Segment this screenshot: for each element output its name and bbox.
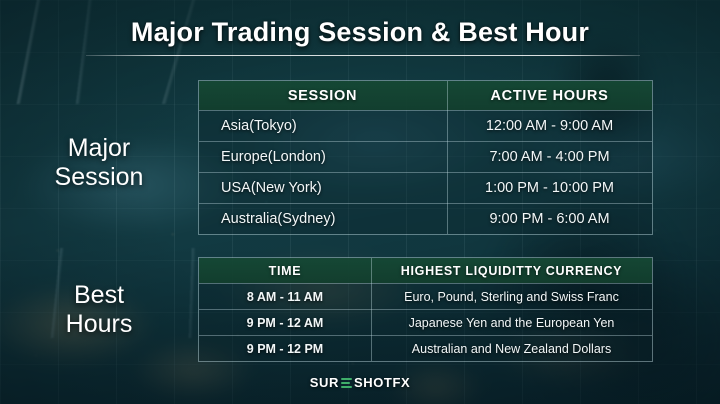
column-header-highest-liquidity-currency: HIGHEST LIQUIDITTY CURRENCY — [371, 264, 652, 278]
section-label-best-hours-line1: Best — [6, 281, 192, 310]
cell-time: 9 PM - 12 AM — [199, 316, 371, 330]
cell-active-hours: 7:00 AM - 4:00 PM — [447, 149, 652, 165]
cell-session: USA(New York) — [199, 180, 447, 196]
column-divider — [447, 81, 448, 234]
section-label-major-session-line1: Major — [6, 134, 192, 163]
sureshotfx-logo: SUR SHOTFX — [0, 375, 720, 390]
major-session-table: SESSION ACTIVE HOURS Asia(Tokyo) 12:00 A… — [198, 80, 653, 235]
cell-currency: Japanese Yen and the European Yen — [371, 316, 652, 330]
cell-time: 9 PM - 12 PM — [199, 342, 371, 356]
column-header-active-hours: ACTIVE HOURS — [447, 88, 652, 104]
column-header-time: TIME — [199, 264, 371, 278]
table-row: 9 PM - 12 AM Japanese Yen and the Europe… — [199, 309, 652, 335]
best-hours-table: TIME HIGHEST LIQUIDITTY CURRENCY 8 AM - … — [198, 257, 653, 362]
cell-currency: Euro, Pound, Sterling and Swiss Franc — [371, 290, 652, 304]
table-row: USA(New York) 1:00 PM - 10:00 PM — [199, 172, 652, 203]
title-underline-divider — [86, 55, 640, 56]
section-label-best-hours-line2: Hours — [6, 310, 192, 339]
table-row: Australia(Sydney) 9:00 PM - 6:00 AM — [199, 203, 652, 234]
page-title: Major Trading Session & Best Hour — [0, 17, 720, 48]
slide-content: Major Trading Session & Best Hour Major … — [0, 0, 720, 404]
section-label-best-hours: Best Hours — [6, 281, 192, 339]
table-header-row: TIME HIGHEST LIQUIDITTY CURRENCY — [199, 258, 652, 283]
cell-session: Australia(Sydney) — [199, 211, 447, 227]
cell-active-hours: 12:00 AM - 9:00 AM — [447, 118, 652, 134]
table-row: Asia(Tokyo) 12:00 AM - 9:00 AM — [199, 110, 652, 141]
table-row: 9 PM - 12 PM Australian and New Zealand … — [199, 335, 652, 361]
cell-session: Asia(Tokyo) — [199, 118, 447, 134]
section-label-major-session-line2: Session — [6, 163, 192, 192]
logo-text-left: SUR — [310, 375, 339, 390]
column-divider — [371, 258, 372, 361]
cell-currency: Australian and New Zealand Dollars — [371, 342, 652, 356]
column-header-session: SESSION — [199, 88, 447, 104]
logo-bars-icon — [341, 378, 352, 388]
table-row: 8 AM - 11 AM Euro, Pound, Sterling and S… — [199, 283, 652, 309]
section-label-major-session: Major Session — [6, 134, 192, 192]
cell-active-hours: 1:00 PM - 10:00 PM — [447, 180, 652, 196]
logo-text-right: SHOTFX — [354, 375, 410, 390]
table-row: Europe(London) 7:00 AM - 4:00 PM — [199, 141, 652, 172]
cell-session: Europe(London) — [199, 149, 447, 165]
table-header-row: SESSION ACTIVE HOURS — [199, 81, 652, 110]
cell-active-hours: 9:00 PM - 6:00 AM — [447, 211, 652, 227]
cell-time: 8 AM - 11 AM — [199, 290, 371, 304]
